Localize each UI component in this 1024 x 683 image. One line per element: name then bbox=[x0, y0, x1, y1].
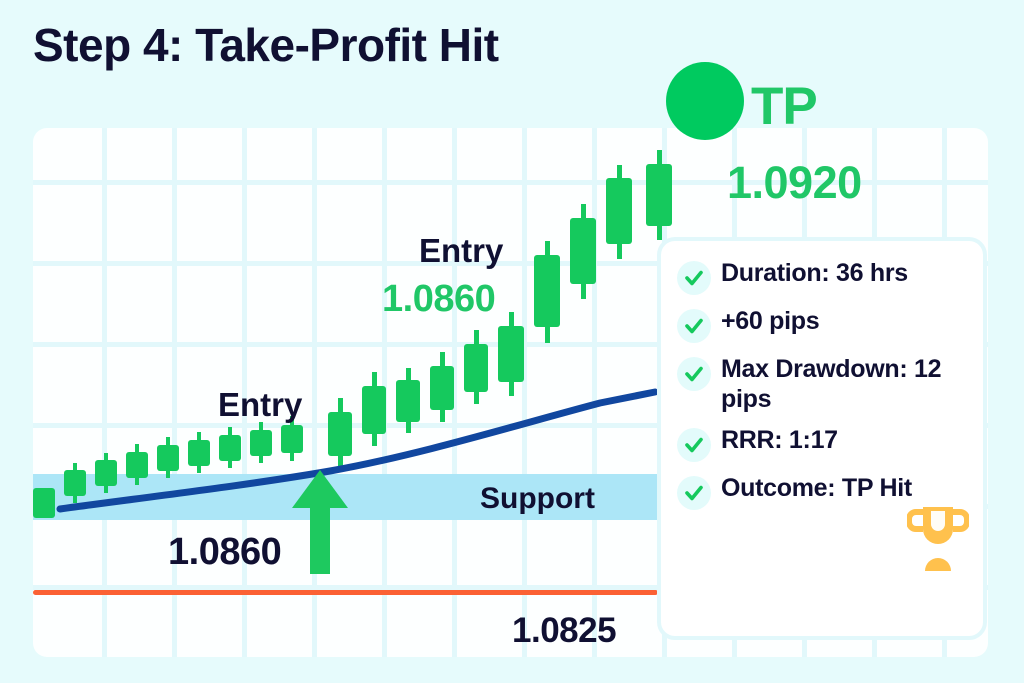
tp-label: TP bbox=[751, 76, 817, 137]
trophy-icon bbox=[907, 501, 969, 578]
tp-price-label: 1.0920 bbox=[727, 157, 862, 209]
list-item-label: Max Drawdown: 12 pips bbox=[721, 355, 967, 414]
entry-label-lower: Entry bbox=[218, 386, 302, 424]
check-icon bbox=[677, 476, 711, 510]
list-item-label: Duration: 36 hrs bbox=[721, 259, 908, 289]
check-icon bbox=[677, 309, 711, 343]
trade-summary-card: Duration: 36 hrs +60 pips Max Drawdown: … bbox=[657, 237, 987, 640]
list-item: Duration: 36 hrs bbox=[677, 259, 967, 295]
list-item-label: +60 pips bbox=[721, 307, 819, 337]
check-icon bbox=[677, 261, 711, 295]
candlestick-series bbox=[33, 150, 672, 518]
entry-arrow-icon bbox=[292, 470, 348, 574]
entry-price-upper: 1.0860 bbox=[382, 278, 495, 321]
moving-average-line bbox=[60, 392, 655, 509]
tp-check-circle-icon bbox=[666, 62, 744, 140]
list-item-label: Outcome: TP Hit bbox=[721, 474, 912, 504]
check-icon bbox=[677, 428, 711, 462]
entry-label-upper: Entry bbox=[419, 232, 503, 270]
infographic-root: Step 4: Take-Profit Hit Support 1.0825 bbox=[0, 0, 1024, 683]
list-item: Max Drawdown: 12 pips bbox=[677, 355, 967, 414]
list-item: +60 pips bbox=[677, 307, 967, 343]
list-item: RRR: 1:17 bbox=[677, 426, 967, 462]
list-item-label: RRR: 1:17 bbox=[721, 426, 838, 456]
entry-price-lower: 1.0860 bbox=[168, 531, 281, 574]
check-icon bbox=[677, 357, 711, 391]
